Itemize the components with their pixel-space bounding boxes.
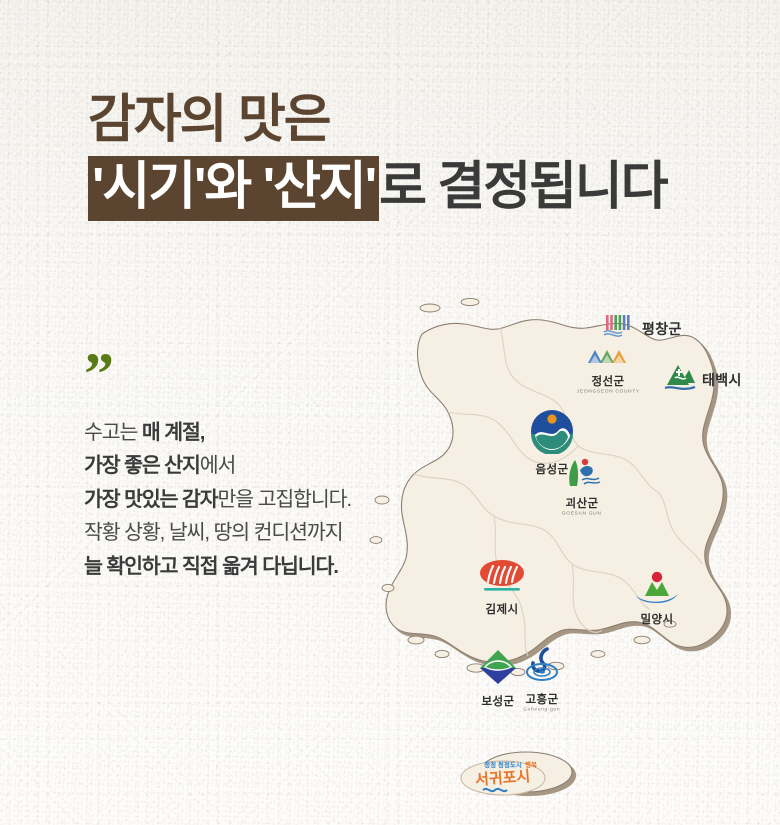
gimje-label: 김제시	[486, 601, 519, 617]
jeongseon-logo-icon	[586, 348, 630, 371]
headline-line-2: '시기'와 '산지'로 결정됩니다	[88, 159, 728, 215]
pyeongchang-logo-icon	[603, 313, 637, 344]
seogwipo-logo-icon: 청정 청정도시 행복 서귀포시	[457, 754, 549, 803]
taebaek-logo-icon	[663, 361, 697, 398]
quote-text-plain: 작황 상황, 날씨, 땅의 컨디션까지	[84, 521, 342, 544]
map-shape-svg	[330, 288, 780, 808]
gimje-logo-icon	[478, 558, 526, 599]
boseong-logo-icon	[478, 648, 518, 691]
page-title: 감자의 맛은 '시기'와 '산지'로 결정됩니다	[88, 92, 728, 215]
miryang-label: 밀양시	[641, 611, 674, 627]
headline-line-1: 감자의 맛은	[88, 92, 728, 148]
quote-text-bold: 가장 맛있는 감자	[84, 488, 218, 511]
boseong-label: 보성군	[482, 693, 515, 709]
quote-text-bold: 가장 좋은 산지	[84, 454, 200, 477]
goesan-label: 괴산군	[566, 495, 599, 511]
quote-text-plain: 수고는	[84, 421, 142, 444]
goheung-logo-icon	[523, 646, 561, 689]
south-korea-map: 평창군 정선군 JEONGSEON COUNTY	[330, 288, 780, 808]
infographic-page: 감자의 맛은 '시기'와 '산지'로 결정됩니다 ” 수고는 매 계절, 가장 …	[0, 0, 780, 825]
svg-text:청정 청정도시: 청정 청정도시	[484, 760, 522, 769]
headline-line-2-rest: 로 결정됩니다	[379, 158, 667, 216]
jeongseon-label: 정선군	[592, 373, 625, 389]
pyeongchang-label: 평창군	[642, 319, 682, 339]
jeongseon-romanized: JEONGSEON COUNTY	[576, 388, 639, 393]
quote-text-plain-end: 에서	[200, 454, 236, 477]
miryang-logo-icon	[633, 570, 681, 609]
goheung-romanized: Goheung-gun	[523, 706, 560, 711]
headline-highlight: '시기'와 '산지'	[88, 156, 379, 221]
goheung-label: 고흥군	[526, 691, 559, 707]
goesan-logo-icon	[561, 456, 603, 493]
quote-text-bold: 늘 확인하고 직접 옮겨 다닙니다.	[84, 555, 338, 578]
eumseong-logo-icon	[529, 408, 575, 459]
quote-text-bold: 매 계절,	[142, 421, 204, 444]
goesan-romanized: GOESAN GUN	[562, 510, 602, 515]
taebaek-label: 태백시	[702, 370, 742, 390]
